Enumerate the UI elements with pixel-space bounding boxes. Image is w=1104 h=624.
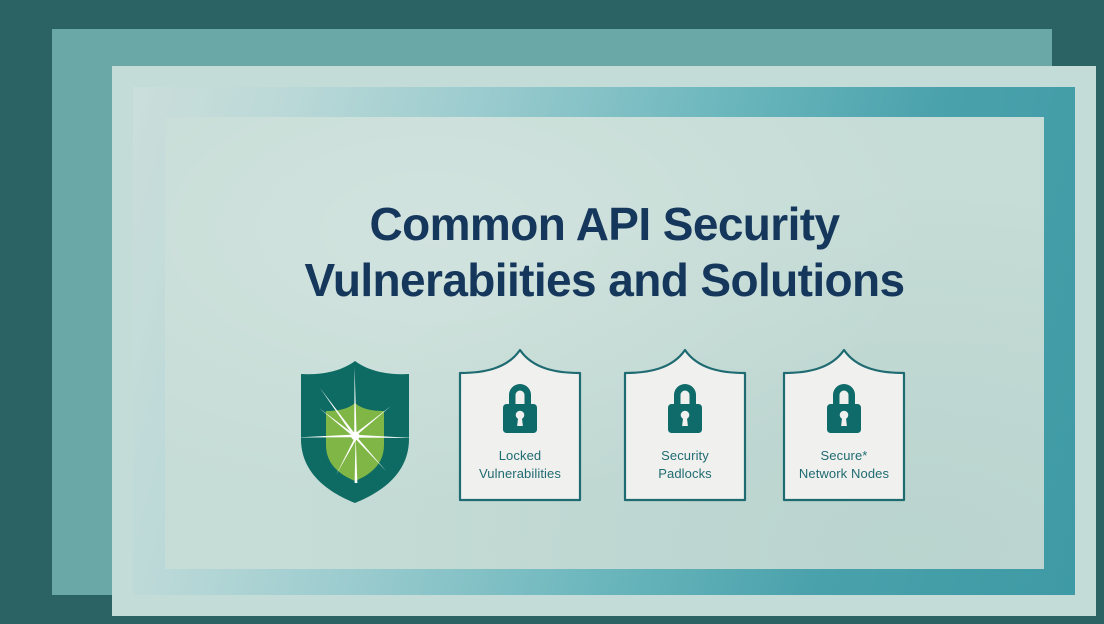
padlock-icon xyxy=(821,381,867,435)
badge-card-security-padlocks[interactable]: Security Padlocks xyxy=(620,347,750,502)
padlock-icon xyxy=(497,381,543,435)
slide-canvas: Common API Security Vulnerabiities and S… xyxy=(0,0,1104,624)
badge-content: Locked Vulnerabilities xyxy=(455,365,585,502)
badge-row: Locked Vulnerabilities xyxy=(165,347,1044,517)
shield-sparkle-icon xyxy=(295,359,415,505)
badge-content: Secure* Network Nodes xyxy=(779,365,909,502)
badge-caption: Secure* Network Nodes xyxy=(799,447,889,483)
outer-frame-border: Common API Security Vulnerabiities and S… xyxy=(52,29,1052,595)
badge-caption: Security Padlocks xyxy=(658,447,712,483)
title-line-1: Common API Security xyxy=(165,196,1044,252)
page-title: Common API Security Vulnerabiities and S… xyxy=(165,196,1044,308)
badge-caption: Locked Vulnerabilities xyxy=(479,447,561,483)
badge-card-locked-vulnerabilities[interactable]: Locked Vulnerabilities xyxy=(455,347,585,502)
title-line-2: Vulnerabiities and Solutions xyxy=(165,252,1044,308)
badge-card-secure-network-nodes[interactable]: Secure* Network Nodes xyxy=(779,347,909,502)
badge-content: Security Padlocks xyxy=(620,365,750,502)
content-panel: Common API Security Vulnerabiities and S… xyxy=(165,117,1044,569)
padlock-icon xyxy=(662,381,708,435)
